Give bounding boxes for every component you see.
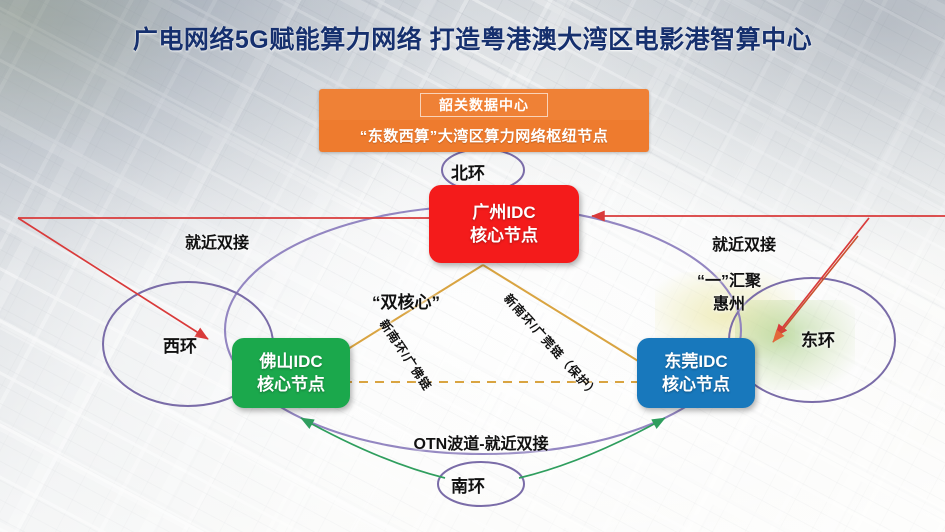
node-foshan-idc[interactable]: 佛山IDC 核心节点 — [232, 338, 350, 408]
label-dual-core: “双核心” — [372, 288, 440, 313]
slide-canvas: 广电网络5G赋能算力网络 打造粤港澳大湾区电影港智算中心 — [0, 0, 945, 532]
label-huizhou-converge: “一”汇聚 — [697, 267, 761, 291]
ring-label-west: 西环 — [163, 332, 197, 357]
ring-label-east: 东环 — [801, 326, 835, 351]
label-dual-access-left: 就近双接 — [185, 229, 249, 253]
gold-link-triangle — [295, 265, 672, 382]
shaoguan-banner-bottom-label: “东数西算”大湾区算力网络枢纽节点 — [319, 120, 649, 152]
node-foshan-line2: 核心节点 — [257, 373, 325, 396]
label-otn-wavelength: OTN波道-就近双接 — [413, 430, 548, 454]
shaoguan-banner-top: 韶关数据中心 — [319, 89, 649, 120]
node-dongguan-line2: 核心节点 — [662, 373, 730, 396]
node-guangzhou-line2: 核心节点 — [470, 224, 538, 247]
node-guangzhou-idc[interactable]: 广州IDC 核心节点 — [429, 185, 579, 263]
node-dongguan-idc[interactable]: 东莞IDC 核心节点 — [637, 338, 755, 408]
label-dual-access-right: 就近双接 — [712, 231, 776, 255]
node-dongguan-line1: 东莞IDC — [664, 350, 727, 373]
shaoguan-banner-top-label: 韶关数据中心 — [420, 93, 548, 117]
node-foshan-line1: 佛山IDC — [259, 350, 322, 373]
ring-label-south: 南环 — [451, 472, 485, 497]
node-guangzhou-line1: 广州IDC — [472, 201, 535, 224]
shaoguan-banner: 韶关数据中心 “东数西算”大湾区算力网络枢纽节点 — [319, 89, 649, 152]
label-huizhou-name: 惠州 — [713, 290, 745, 314]
ring-label-north: 北环 — [451, 159, 485, 184]
